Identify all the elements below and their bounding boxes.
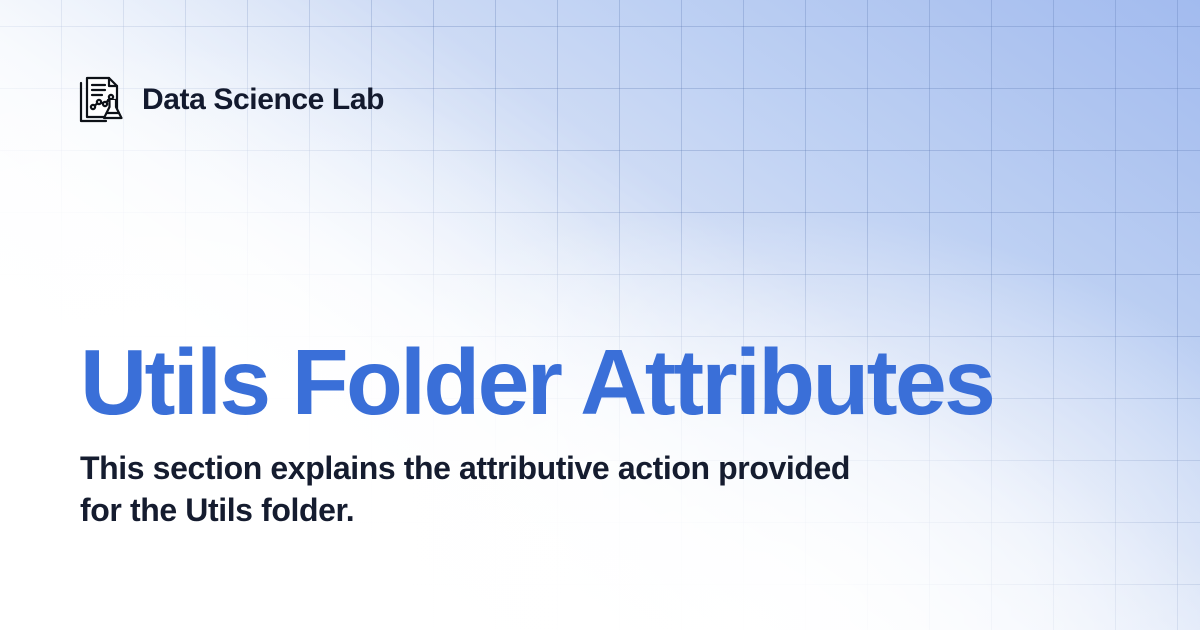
brand-name: Data Science Lab xyxy=(142,85,384,115)
page-title: Utils Folder Attributes xyxy=(80,336,1120,429)
document-chart-flask-icon xyxy=(78,76,124,124)
page-subtitle: This section explains the attributive ac… xyxy=(80,447,870,531)
hero-banner: Data Science Lab Utils Folder Attributes… xyxy=(0,0,1200,630)
brand-lockup: Data Science Lab xyxy=(78,76,384,124)
hero-content: Utils Folder Attributes This section exp… xyxy=(80,336,1120,531)
